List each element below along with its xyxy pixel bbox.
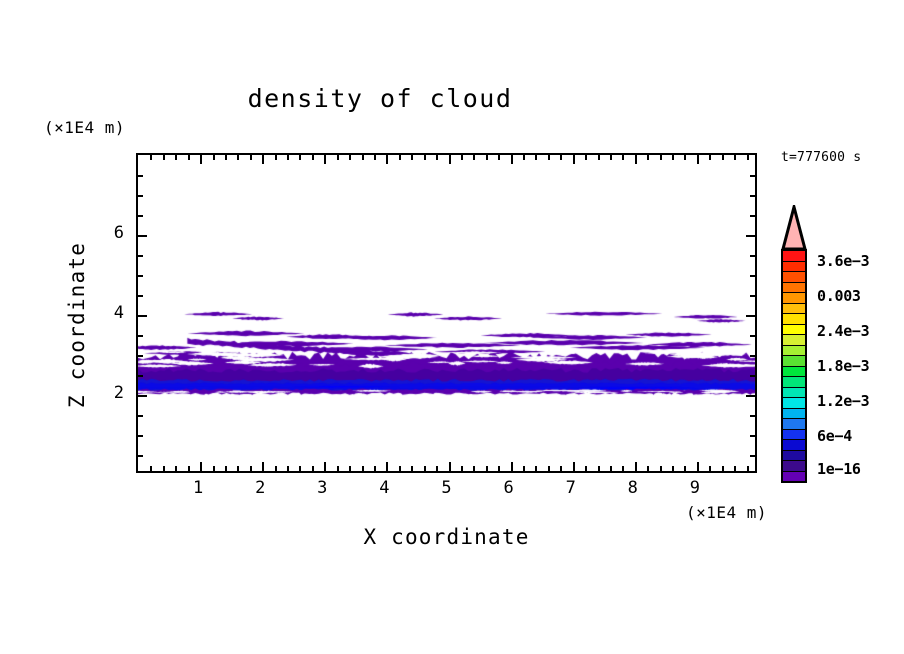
colorbar-band — [783, 356, 805, 367]
x-axis-major-tick — [324, 462, 326, 471]
x-axis-minor-tick — [498, 466, 500, 471]
x-axis-minor-tick — [684, 155, 686, 160]
x-axis-minor-tick — [461, 155, 463, 160]
x-axis-minor-tick — [287, 466, 289, 471]
y-axis-minor-tick — [138, 215, 143, 217]
x-axis-minor-tick — [362, 155, 364, 160]
x-axis-minor-tick — [647, 466, 649, 471]
colorbar-bands — [781, 249, 807, 483]
x-axis-minor-tick — [747, 155, 749, 160]
y-axis-major-tick — [746, 315, 755, 317]
x-axis-major-tick — [573, 462, 575, 471]
y-axis-minor-tick — [138, 355, 143, 357]
y-axis-minor-tick — [750, 435, 755, 437]
y-axis-minor-tick — [750, 175, 755, 177]
y-axis-major-tick — [138, 315, 147, 317]
y-axis-unit-label: (×1E4 m) — [44, 118, 125, 137]
x-axis-minor-tick — [374, 155, 376, 160]
y-axis-title: Z coordinate — [65, 205, 89, 445]
x-axis-minor-tick — [486, 466, 488, 471]
x-axis-minor-tick — [709, 466, 711, 471]
y-axis-minor-tick — [138, 335, 143, 337]
page-title: density of cloud — [0, 84, 760, 113]
colorbar-band — [783, 461, 805, 472]
x-axis-minor-tick — [535, 155, 537, 160]
x-axis-minor-tick — [362, 466, 364, 471]
x-axis-major-tick — [262, 155, 264, 164]
colorbar-tick-label: 2.4e−3 — [817, 322, 869, 340]
colorbar-band — [783, 377, 805, 388]
x-axis-minor-tick — [349, 155, 351, 160]
colorbar-band — [783, 451, 805, 462]
colorbar-band — [783, 409, 805, 420]
y-axis-minor-tick — [138, 195, 143, 197]
x-tick-label: 2 — [245, 478, 275, 498]
x-axis-minor-tick — [622, 466, 624, 471]
y-axis-minor-tick — [750, 295, 755, 297]
colorbar-band — [783, 251, 805, 262]
x-axis-minor-tick — [436, 155, 438, 160]
y-axis-major-tick — [138, 235, 147, 237]
x-axis-unit-label: (×1E4 m) — [686, 503, 767, 522]
x-axis-title: X coordinate — [136, 525, 757, 549]
x-axis-minor-tick — [225, 466, 227, 471]
y-axis-minor-tick — [750, 195, 755, 197]
x-axis-minor-tick — [598, 155, 600, 160]
y-axis-major-tick — [746, 235, 755, 237]
y-axis-minor-tick — [138, 375, 143, 377]
y-axis-minor-tick — [750, 215, 755, 217]
colorbar-band — [783, 283, 805, 294]
x-axis-major-tick — [386, 462, 388, 471]
x-axis-minor-tick — [188, 466, 190, 471]
x-axis-minor-tick — [473, 466, 475, 471]
colorbar-tick-label: 6e−4 — [817, 427, 852, 445]
x-axis-minor-tick — [610, 155, 612, 160]
colorbar-tick-label: 1.2e−3 — [817, 392, 869, 410]
x-axis-minor-tick — [672, 155, 674, 160]
colorbar-band — [783, 440, 805, 451]
x-axis-minor-tick — [175, 466, 177, 471]
x-tick-label: 4 — [369, 478, 399, 498]
x-axis-minor-tick — [399, 155, 401, 160]
x-axis-minor-tick — [299, 155, 301, 160]
x-axis-minor-tick — [250, 155, 252, 160]
colorbar-band — [783, 293, 805, 304]
colorbar-arrow-icon — [781, 205, 807, 251]
x-tick-label: 9 — [680, 478, 710, 498]
x-axis-minor-tick — [709, 155, 711, 160]
y-axis-minor-tick — [138, 255, 143, 257]
x-axis-minor-tick — [424, 466, 426, 471]
x-axis-minor-tick — [424, 155, 426, 160]
y-axis-minor-tick — [750, 375, 755, 377]
contour-field — [138, 155, 755, 471]
time-stamp-annotation: t=777600 s — [781, 150, 861, 165]
x-axis-minor-tick — [399, 466, 401, 471]
y-axis-minor-tick — [138, 175, 143, 177]
y-axis-major-tick — [746, 395, 755, 397]
x-axis-minor-tick — [734, 155, 736, 160]
y-axis-minor-tick — [750, 255, 755, 257]
x-axis-minor-tick — [188, 155, 190, 160]
x-tick-label: 5 — [432, 478, 462, 498]
colorbar — [781, 205, 807, 483]
x-axis-major-tick — [697, 462, 699, 471]
x-axis-minor-tick — [610, 466, 612, 471]
colorbar-band — [783, 314, 805, 325]
x-axis-minor-tick — [498, 155, 500, 160]
x-axis-minor-tick — [660, 155, 662, 160]
x-tick-label: 3 — [307, 478, 337, 498]
x-axis-major-tick — [573, 155, 575, 164]
x-tick-label: 8 — [618, 478, 648, 498]
colorbar-band — [783, 304, 805, 315]
x-axis-major-tick — [449, 462, 451, 471]
x-axis-minor-tick — [535, 466, 537, 471]
y-axis-minor-tick — [750, 275, 755, 277]
x-tick-label: 7 — [556, 478, 586, 498]
x-axis-minor-tick — [722, 466, 724, 471]
colorbar-band — [783, 346, 805, 357]
x-axis-minor-tick — [598, 466, 600, 471]
y-axis-minor-tick — [750, 415, 755, 417]
x-axis-minor-tick — [150, 155, 152, 160]
x-axis-major-tick — [262, 462, 264, 471]
x-axis-major-tick — [635, 462, 637, 471]
x-axis-minor-tick — [747, 466, 749, 471]
x-axis-major-tick — [697, 155, 699, 164]
x-axis-minor-tick — [411, 466, 413, 471]
colorbar-band — [783, 335, 805, 346]
x-axis-minor-tick — [312, 155, 314, 160]
y-tick-label: 2 — [98, 383, 124, 403]
x-axis-minor-tick — [660, 466, 662, 471]
colorbar-tick-label: 1e−16 — [817, 460, 861, 478]
x-axis-minor-tick — [622, 155, 624, 160]
x-axis-minor-tick — [461, 466, 463, 471]
x-axis-major-tick — [200, 462, 202, 471]
x-axis-major-tick — [200, 155, 202, 164]
colorbar-tick-label: 3.6e−3 — [817, 252, 869, 270]
x-axis-minor-tick — [175, 155, 177, 160]
x-tick-label: 6 — [494, 478, 524, 498]
x-axis-major-tick — [386, 155, 388, 164]
colorbar-tick-label: 0.003 — [817, 287, 861, 305]
x-axis-minor-tick — [275, 155, 277, 160]
x-axis-minor-tick — [163, 155, 165, 160]
x-axis-major-tick — [324, 155, 326, 164]
x-axis-minor-tick — [299, 466, 301, 471]
x-axis-minor-tick — [150, 466, 152, 471]
x-axis-minor-tick — [548, 466, 550, 471]
x-axis-major-tick — [449, 155, 451, 164]
y-tick-label: 6 — [98, 223, 124, 243]
x-axis-minor-tick — [312, 466, 314, 471]
colorbar-band — [783, 367, 805, 378]
x-axis-minor-tick — [672, 466, 674, 471]
x-axis-minor-tick — [349, 466, 351, 471]
colorbar-band — [783, 262, 805, 273]
x-axis-major-tick — [635, 155, 637, 164]
colorbar-band — [783, 430, 805, 441]
colorbar-band — [783, 388, 805, 399]
x-axis-minor-tick — [163, 466, 165, 471]
x-axis-minor-tick — [237, 466, 239, 471]
x-axis-minor-tick — [647, 155, 649, 160]
x-axis-major-tick — [511, 462, 513, 471]
y-tick-label: 4 — [98, 303, 124, 323]
x-axis-minor-tick — [523, 466, 525, 471]
x-axis-minor-tick — [585, 466, 587, 471]
x-axis-minor-tick — [411, 155, 413, 160]
colorbar-band — [783, 398, 805, 409]
y-axis-minor-tick — [138, 275, 143, 277]
x-axis-minor-tick — [734, 466, 736, 471]
colorbar-band — [783, 419, 805, 430]
plot-frame — [136, 153, 757, 473]
x-axis-minor-tick — [585, 155, 587, 160]
x-axis-minor-tick — [337, 466, 339, 471]
x-axis-minor-tick — [225, 155, 227, 160]
x-axis-minor-tick — [337, 155, 339, 160]
y-axis-minor-tick — [138, 435, 143, 437]
x-axis-minor-tick — [374, 466, 376, 471]
y-axis-minor-tick — [138, 455, 143, 457]
y-axis-minor-tick — [750, 455, 755, 457]
x-axis-minor-tick — [722, 155, 724, 160]
x-axis-major-tick — [511, 155, 513, 164]
x-axis-minor-tick — [523, 155, 525, 160]
x-axis-minor-tick — [486, 155, 488, 160]
x-axis-minor-tick — [250, 466, 252, 471]
colorbar-band — [783, 272, 805, 283]
x-axis-minor-tick — [684, 466, 686, 471]
y-axis-major-tick — [138, 395, 147, 397]
x-axis-minor-tick — [473, 155, 475, 160]
x-axis-minor-tick — [560, 155, 562, 160]
x-axis-minor-tick — [548, 155, 550, 160]
x-axis-minor-tick — [287, 155, 289, 160]
x-axis-minor-tick — [213, 466, 215, 471]
colorbar-band — [783, 472, 805, 482]
colorbar-band — [783, 325, 805, 336]
x-axis-minor-tick — [275, 466, 277, 471]
y-axis-minor-tick — [750, 355, 755, 357]
x-axis-minor-tick — [436, 466, 438, 471]
y-axis-minor-tick — [138, 295, 143, 297]
x-tick-label: 1 — [183, 478, 213, 498]
y-axis-minor-tick — [750, 335, 755, 337]
x-axis-minor-tick — [237, 155, 239, 160]
x-axis-minor-tick — [560, 466, 562, 471]
x-axis-minor-tick — [213, 155, 215, 160]
y-axis-minor-tick — [138, 415, 143, 417]
colorbar-tick-label: 1.8e−3 — [817, 357, 869, 375]
